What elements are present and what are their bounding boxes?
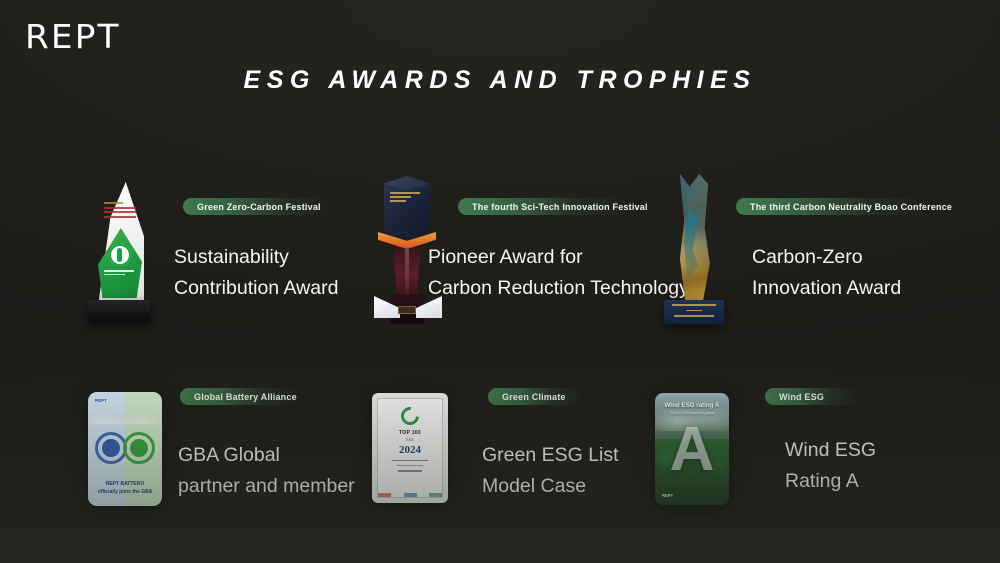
- page-title: ESG AWARDS AND TROPHIES: [0, 66, 1000, 95]
- wind-esg-forest-card-image: A Wind ESG rating A Top 5% ESG leaders b…: [655, 393, 729, 505]
- award-item-sustainability[interactable]: Green Zero-Carbon Festival Sustainabilit…: [78, 170, 378, 360]
- caption-gba: GBA Global partner and member: [178, 440, 355, 502]
- badge-carbon-neutrality-boao-conference: The third Carbon Neutrality Boao Confere…: [736, 198, 928, 215]
- leaf-acrylic-trophy-icon: [82, 182, 160, 322]
- awards-row-2: REPT REPT BATTERO officially joins the G…: [0, 360, 1000, 540]
- rept-logo: REPT: [25, 20, 121, 53]
- badge-green-climate: Green Climate: [488, 388, 584, 405]
- awards-row-1: Green Zero-Carbon Festival Sustainabilit…: [0, 170, 1000, 360]
- award-item-pioneer[interactable]: The fourth Sci-Tech Innovation Festival …: [370, 170, 670, 360]
- award-item-gba[interactable]: REPT REPT BATTERO officially joins the G…: [78, 360, 378, 540]
- caption-wind-esg: Wind ESG Rating A: [785, 435, 876, 497]
- gba-certificate-card-image: REPT REPT BATTERO officially joins the G…: [88, 392, 162, 506]
- awards-grid: Green Zero-Carbon Festival Sustainabilit…: [0, 170, 1000, 540]
- gold-sculpture-trophy-icon: [660, 174, 728, 324]
- badge-sci-tech-innovation-festival: The fourth Sci-Tech Innovation Festival: [458, 198, 628, 215]
- green-esg-certificate-image: TOP 100 ESG 2024: [372, 393, 448, 503]
- award-item-wind-esg[interactable]: A Wind ESG rating A Top 5% ESG leaders b…: [655, 360, 985, 540]
- caption-carbon-zero: Carbon-Zero Innovation Award: [752, 242, 901, 304]
- caption-sustainability: Sustainability Contribution Award: [174, 242, 338, 304]
- caption-green-esg: Green ESG List Model Case: [482, 440, 619, 502]
- slide-canvas: REPT ESG AWARDS AND TROPHIES Gr: [0, 0, 1000, 563]
- badge-wind-esg: Wind ESG: [765, 388, 861, 405]
- caption-pioneer: Pioneer Award for Carbon Reduction Techn…: [428, 242, 689, 304]
- badge-green-zero-carbon-festival: Green Zero-Carbon Festival: [183, 198, 333, 215]
- award-item-green-esg[interactable]: TOP 100 ESG 2024 Green Climate Gre: [370, 360, 670, 540]
- award-item-carbon-zero[interactable]: The third Carbon Neutrality Boao Confere…: [660, 170, 990, 360]
- badge-global-battery-alliance: Global Battery Alliance: [180, 388, 300, 405]
